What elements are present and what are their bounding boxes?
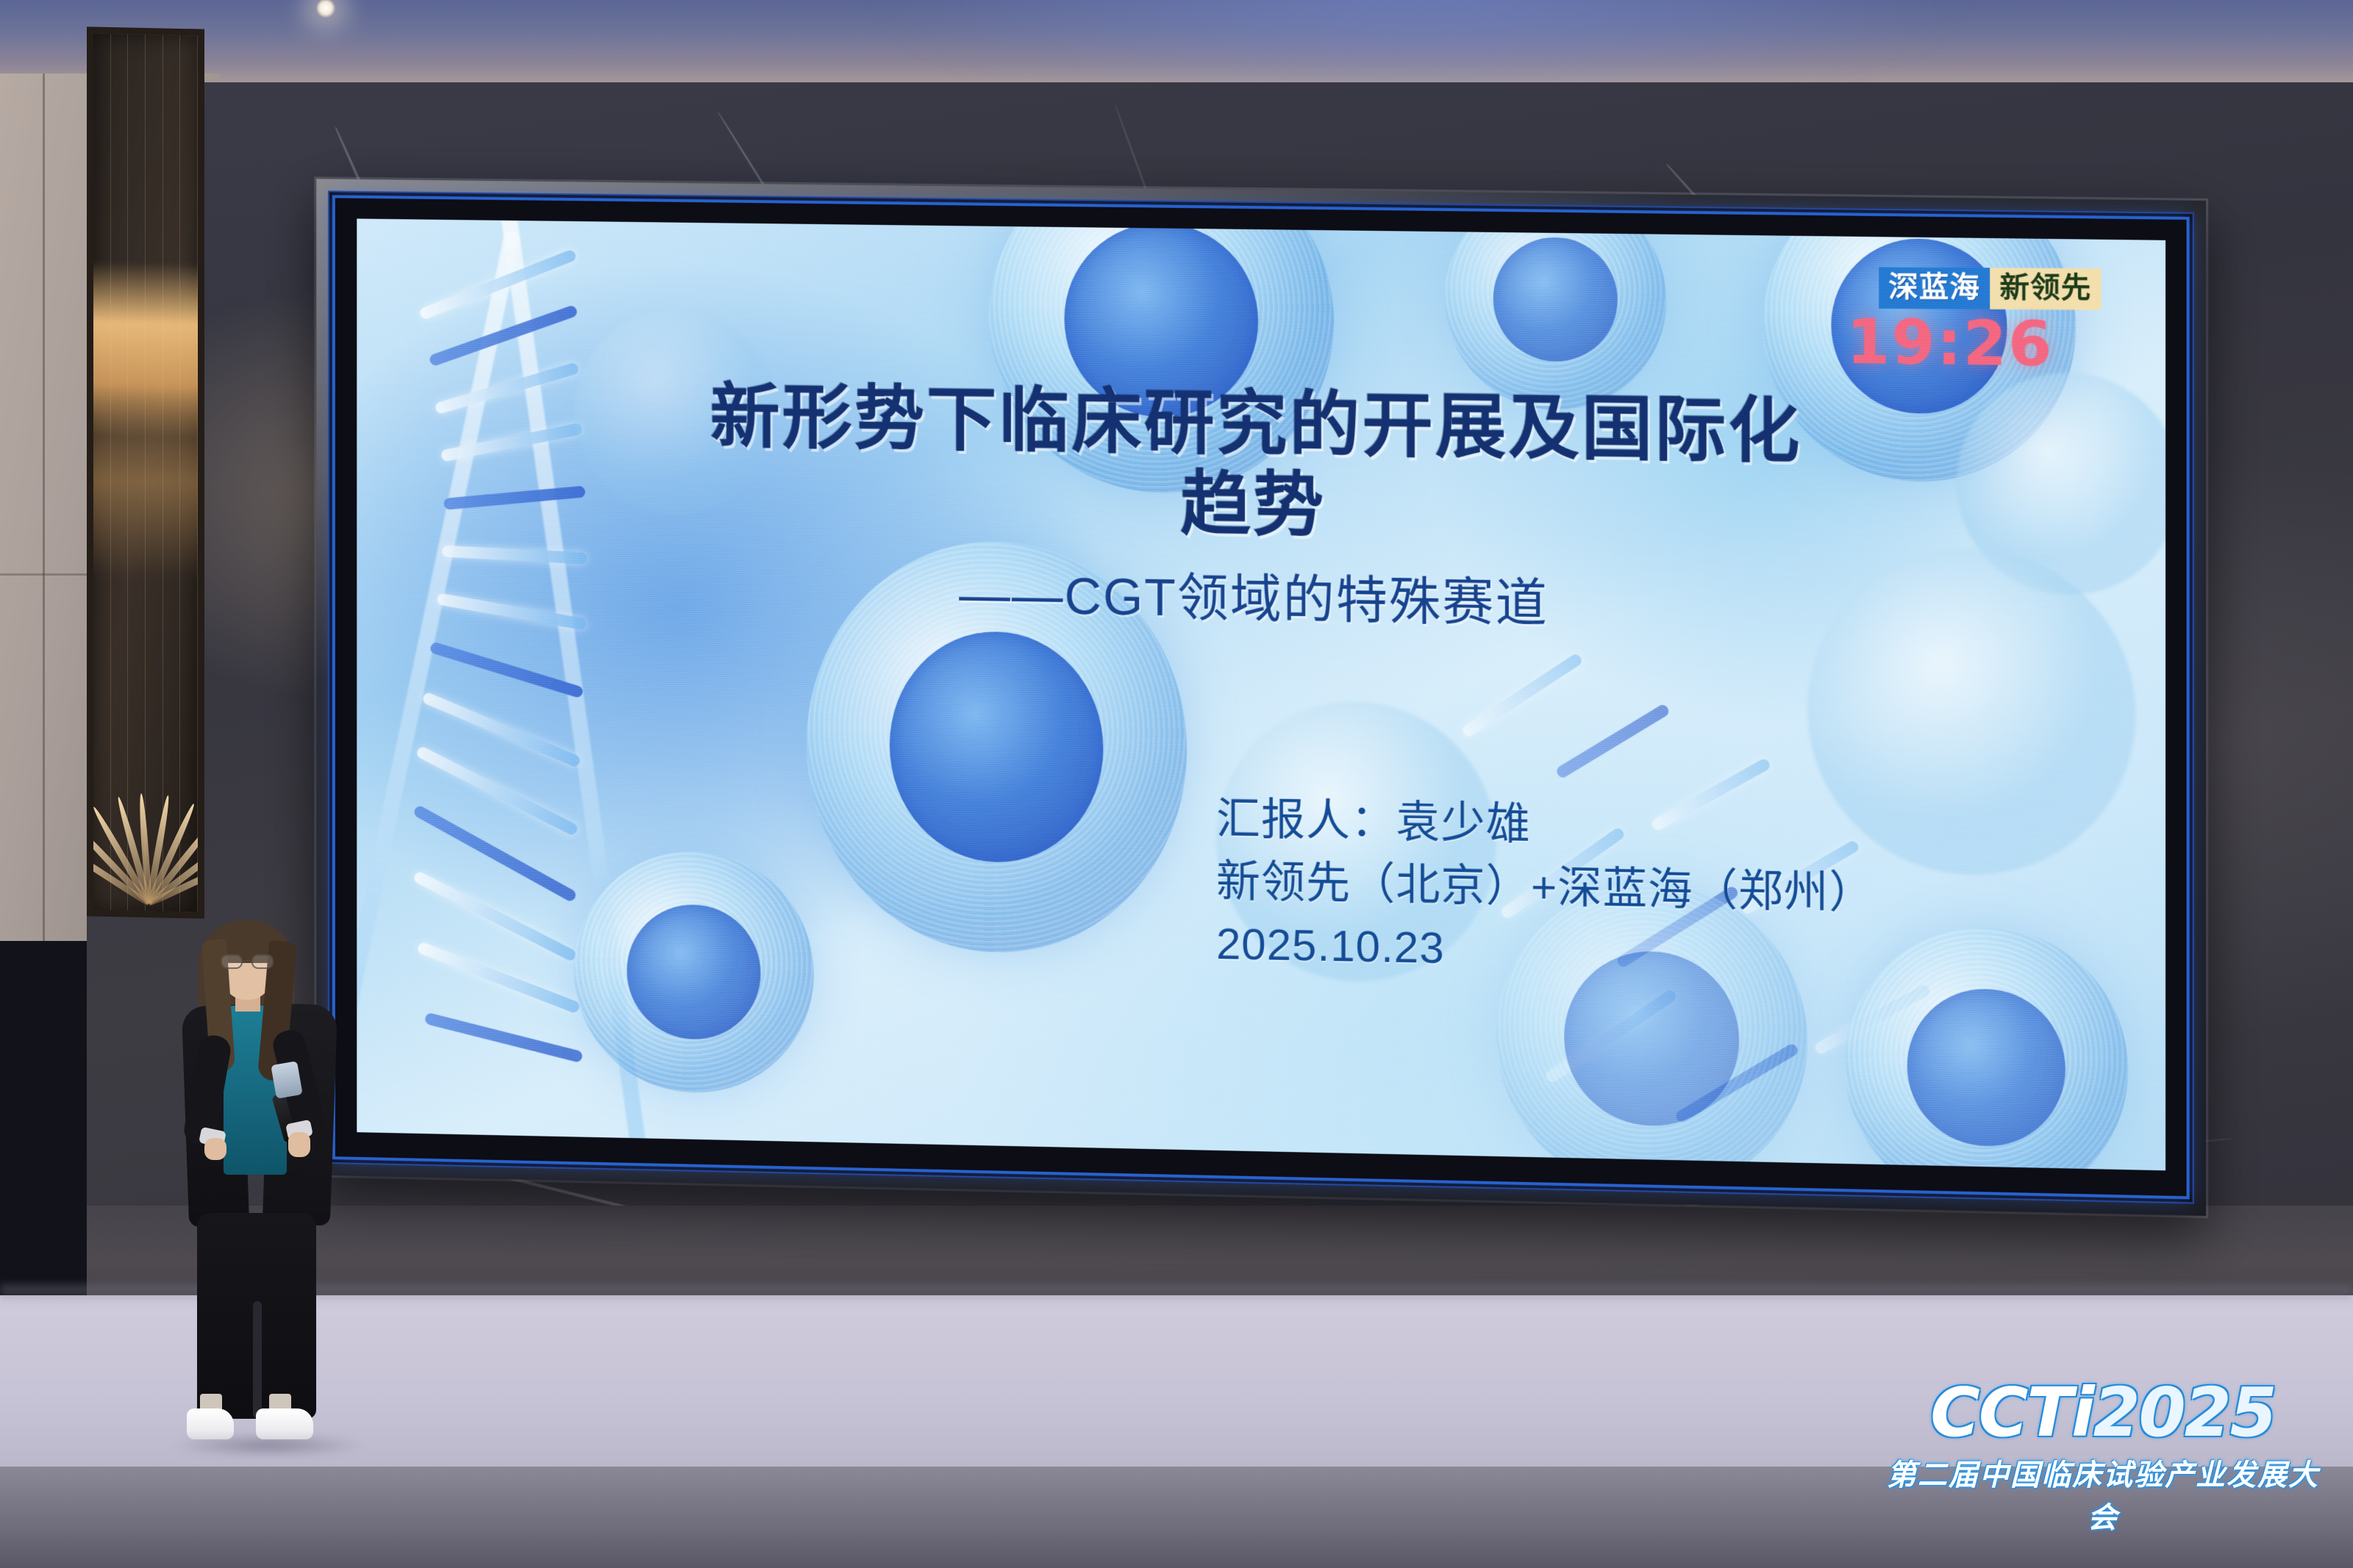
event-logo-acronym: CCTi [1930,1373,2093,1452]
led-screen-frame: 深蓝海 新领先 19:26 新形势下临床研究的开展及国际化 趋势 ——CGT领域… [316,179,2206,1216]
presenter-name-line: 汇报人：袁少雄 [1216,787,1874,862]
speaker-hand-left [204,1138,226,1160]
ceiling [0,0,2353,87]
event-logo-year: 2025 [2093,1373,2276,1452]
wheat-sheaf-sculpture-icon [87,667,204,919]
speaker-figure [147,919,368,1448]
event-logo-wordmark: CCTi2025 [1882,1379,2324,1447]
presentation-slide[interactable]: 深蓝海 新领先 19:26 新形势下临床研究的开展及国际化 趋势 ——CGT领域… [357,218,2165,1170]
speaker-leg-gap [253,1301,262,1419]
speaker-shoe-left [187,1408,234,1439]
decorative-wall-panel [87,26,204,918]
presenter-date-line: 2025.10.23 [1216,912,1874,988]
conference-stage-photo: 深蓝海 新领先 19:26 新形势下临床研究的开展及国际化 趋势 ——CGT领域… [0,0,2353,1568]
badge-shenlanhai: 深蓝海 [1879,267,1990,309]
microphone-head-icon [271,1061,302,1099]
event-logo-chinese-name: 第二届中国临床试验产业发展大会 [1882,1451,2324,1536]
slide-clock: 19:26 [1846,310,2053,375]
slide-subtitle: ——CGT领域的特殊赛道 [357,544,2165,646]
slide-content: 深蓝海 新领先 19:26 新形势下临床研究的开展及国际化 趋势 ——CGT领域… [357,218,2165,1170]
panel-backlight-secondary [87,384,204,579]
event-logo: CCTi2025 第二届中国临床试验产业发展大会 [1882,1379,2324,1489]
slide-title-block: 新形势下临床研究的开展及国际化 趋势 ——CGT领域的特殊赛道 [357,372,2165,647]
sponsor-badges: 深蓝海 新领先 [1879,267,2101,309]
badge-xinlingxian: 新领先 [1990,268,2101,309]
glasses-icon [221,954,274,969]
speaker-hand-right [288,1132,310,1157]
speaker-shoe-right [256,1408,313,1439]
slide-presenter-block: 汇报人：袁少雄 新领先（北京）+深蓝海（郑州） 2025.10.23 [1216,787,1874,988]
screen-bezel: 深蓝海 新领先 19:26 新形势下临床研究的开展及国际化 趋势 ——CGT领域… [328,190,2194,1203]
